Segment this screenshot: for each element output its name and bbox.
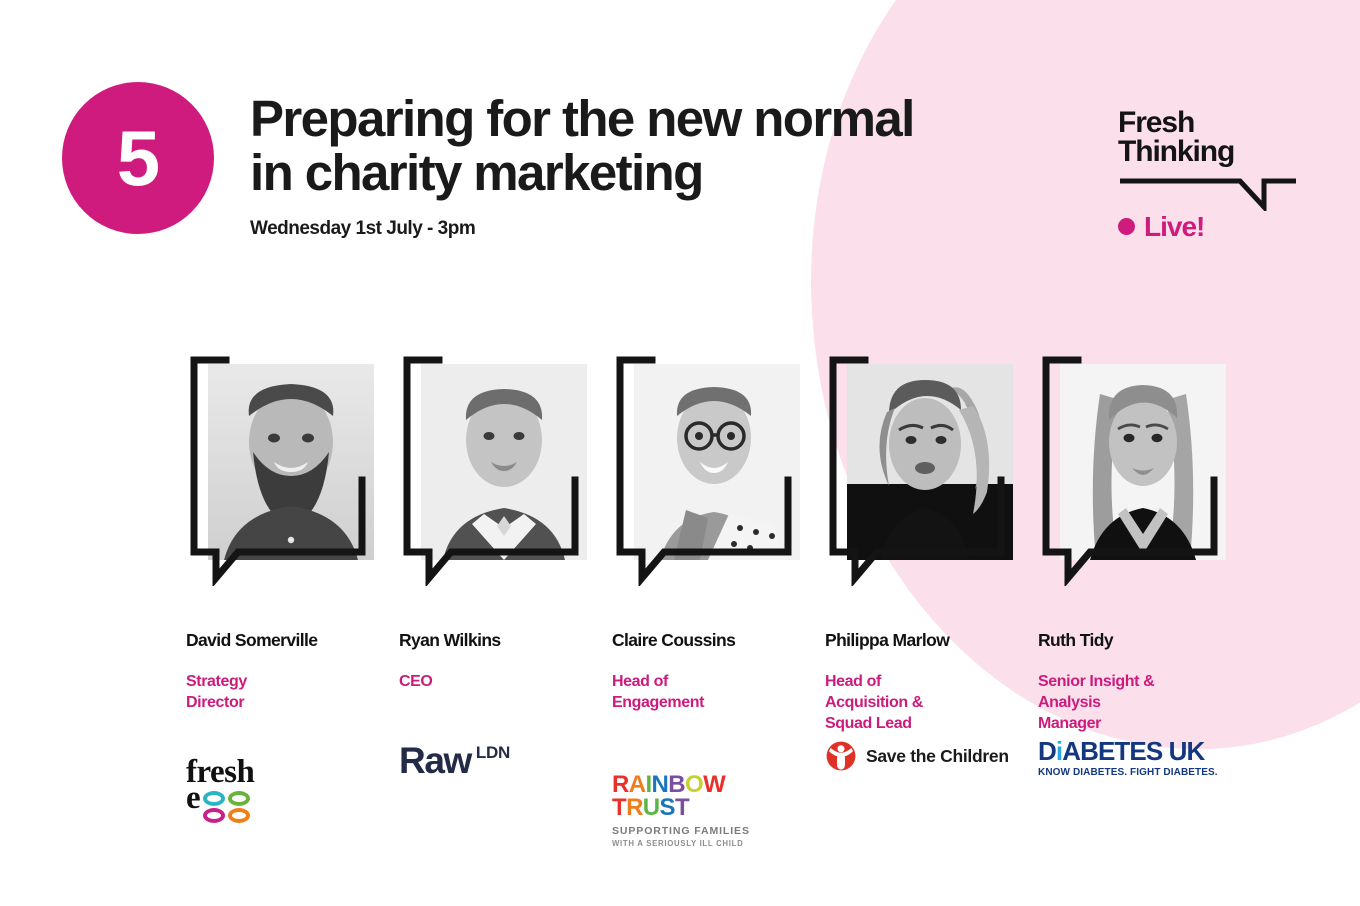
title-block: Preparing for the new normal in charity … [250,92,1080,240]
fresh-egg-letter-e: e [186,784,201,814]
ring-orange-icon [228,808,250,823]
speaker-card-ryan-wilkins: Ryan Wilkins CEO Raw LDN [399,352,603,872]
diabetes-uk-tagline: KNOW DIABETES. FIGHT DIABETES. [1038,767,1218,778]
portrait-david-somerville [208,364,374,560]
live-label: Live! [1144,213,1204,241]
duk-letter-d: D [1038,736,1056,766]
brand-logo-line-2: Thinking [1118,137,1298,166]
org-logo-save-the-children: Save the Children [825,740,1035,816]
portrait-ryan-wilkins [421,364,587,560]
speaker-name: Ryan Wilkins [399,630,603,650]
org-logo-fresh-egg: fresh e [186,758,396,834]
page-title-line-2: in charity marketing [250,146,1080,200]
duk-rest: ABETES UK [1062,736,1204,766]
speaker-role: Senior Insight & Analysis Manager [1038,672,1242,734]
brand-logo-line-1: Fresh [1118,108,1298,137]
ring-teal-icon [203,791,225,806]
speaker-role: Head of Acquisition & Squad Lead [825,672,1029,734]
speaker-card-philippa-marlow: Philippa Marlow Head of Acquisition & Sq… [825,352,1029,872]
header: 5 Preparing for the new normal in charit… [0,0,1360,300]
speaker-photo-bubble [186,352,382,586]
speaker-photo-bubble [1038,352,1234,586]
org-logo-raw-ldn: Raw LDN [399,742,609,818]
speaker-role: Strategy Director [186,672,390,714]
speaker-role: CEO [399,672,603,693]
fresh-thinking-live-logo: Fresh Thinking Live! [1118,108,1298,241]
raw-ldn-superscript: LDN [476,743,510,763]
speaker-photo-bubble [825,352,1021,586]
portrait-philippa-marlow [847,364,1013,560]
org-logo-diabetes-uk: DiABETES UK KNOW DIABETES. FIGHT DIABETE… [1038,738,1248,814]
episode-number-text: 5 [117,119,159,197]
speaker-card-david-somerville: David Somerville Strategy Director fresh… [186,352,390,872]
save-the-children-wordmark: Save the Children [866,746,1009,767]
speakers-row: David Somerville Strategy Director fresh… [0,352,1360,872]
speaker-name: Claire Coussins [612,630,816,650]
fresh-egg-rings-icon [203,791,250,823]
speaker-name: Philippa Marlow [825,630,1029,650]
page-title-line-1: Preparing for the new normal [250,92,1080,146]
speaker-name: David Somerville [186,630,390,650]
ring-green-icon [228,791,250,806]
speaker-photo-bubble [399,352,595,586]
speaker-photo-bubble [612,352,808,586]
org-logo-rainbow-trust: RAINBOW TRUST SUPPORTING FAMILIES WITH A… [612,774,822,850]
live-dot-icon [1118,218,1135,235]
live-badge: Live! [1118,213,1298,241]
speaker-role: Head of Engagement [612,672,816,714]
rainbow-trust-tagline-1: SUPPORTING FAMILIES [612,825,752,837]
rainbow-trust-line-2: TRUST [612,797,752,820]
webinar-promo-slide: 5 Preparing for the new normal in charit… [0,0,1360,906]
episode-number-badge: 5 [62,82,214,234]
speaker-card-claire-coussins: Claire Coussins Head of Engagement RAINB… [612,352,816,872]
raw-wordmark: Raw [399,742,471,779]
save-the-children-mark-icon [825,740,857,772]
ring-magenta-icon [203,808,225,823]
rainbow-trust-tagline-2: WITH A SERIOUSLY ILL CHILD [612,839,752,848]
event-datetime: Wednesday 1st July - 3pm [250,218,1080,240]
diabetes-uk-wordmark: DiABETES UK [1038,738,1218,764]
speaker-card-ruth-tidy: Ruth Tidy Senior Insight & Analysis Mana… [1038,352,1242,872]
speech-bubble-rule [1118,177,1298,211]
speaker-name: Ruth Tidy [1038,630,1242,650]
portrait-claire-coussins [634,364,800,560]
portrait-ruth-tidy [1060,364,1226,560]
